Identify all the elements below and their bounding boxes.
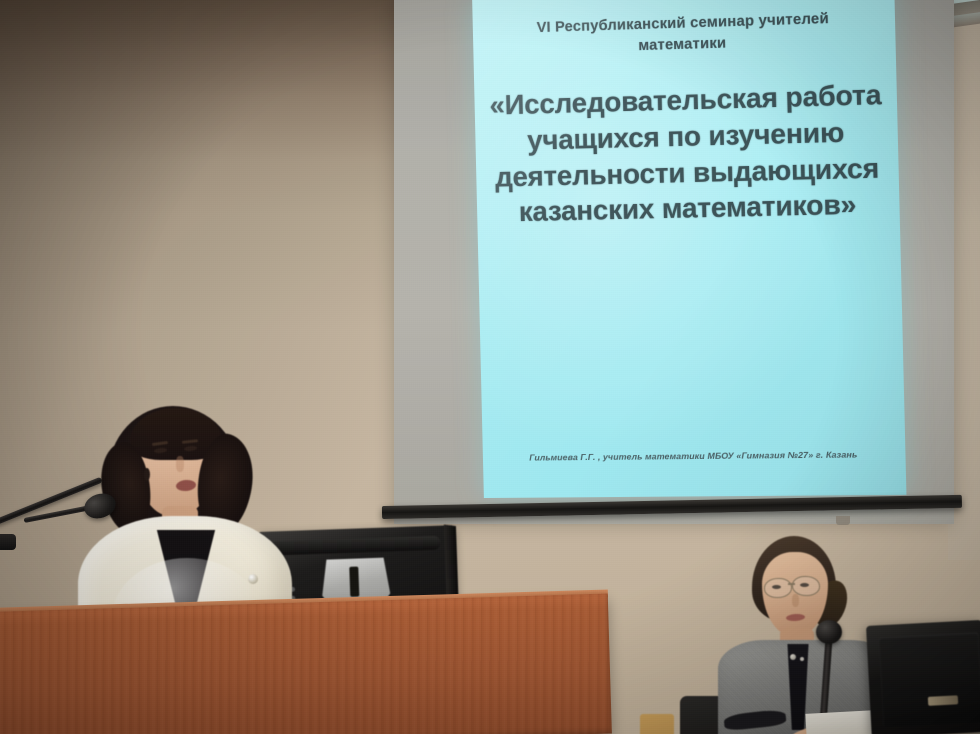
seated-nose: [792, 594, 799, 607]
monitor-logo: [928, 695, 958, 706]
eyeglass-lens-left: [764, 578, 792, 598]
projected-slide: VI Республиканский семинар учителей мате…: [472, 0, 906, 498]
right-monitor: [866, 620, 980, 734]
paper-sheet: [805, 710, 876, 734]
monitor-stand-slot: [349, 567, 359, 597]
jacket-buttons: [790, 654, 796, 660]
slide-footer-attribution: Гильмиева Г.Г. , учитель математики МБОУ…: [483, 449, 906, 463]
eyeglass-bridge: [788, 583, 795, 585]
microphone-base: [0, 534, 16, 550]
right-monitor-back-panel: [879, 632, 980, 727]
slide-title-text: «Исследовательская работа учащихся по из…: [485, 77, 888, 231]
screen-bar-clip: [836, 516, 850, 525]
slide-header-text: VI Республиканский семинар учителей мате…: [500, 8, 868, 62]
gooseneck-microphone-head: [816, 620, 842, 644]
photograph-scene: VI Республиканский семинар учителей мате…: [0, 0, 980, 734]
eyeglass-lens-right: [792, 576, 820, 596]
wooden-podium: [0, 594, 612, 734]
speaker-nose: [176, 456, 184, 472]
podium-wood-grain: [0, 594, 612, 734]
speaker-earring: [144, 468, 150, 481]
wooden-chair: [640, 714, 674, 734]
speaker-brooch: [248, 574, 258, 584]
